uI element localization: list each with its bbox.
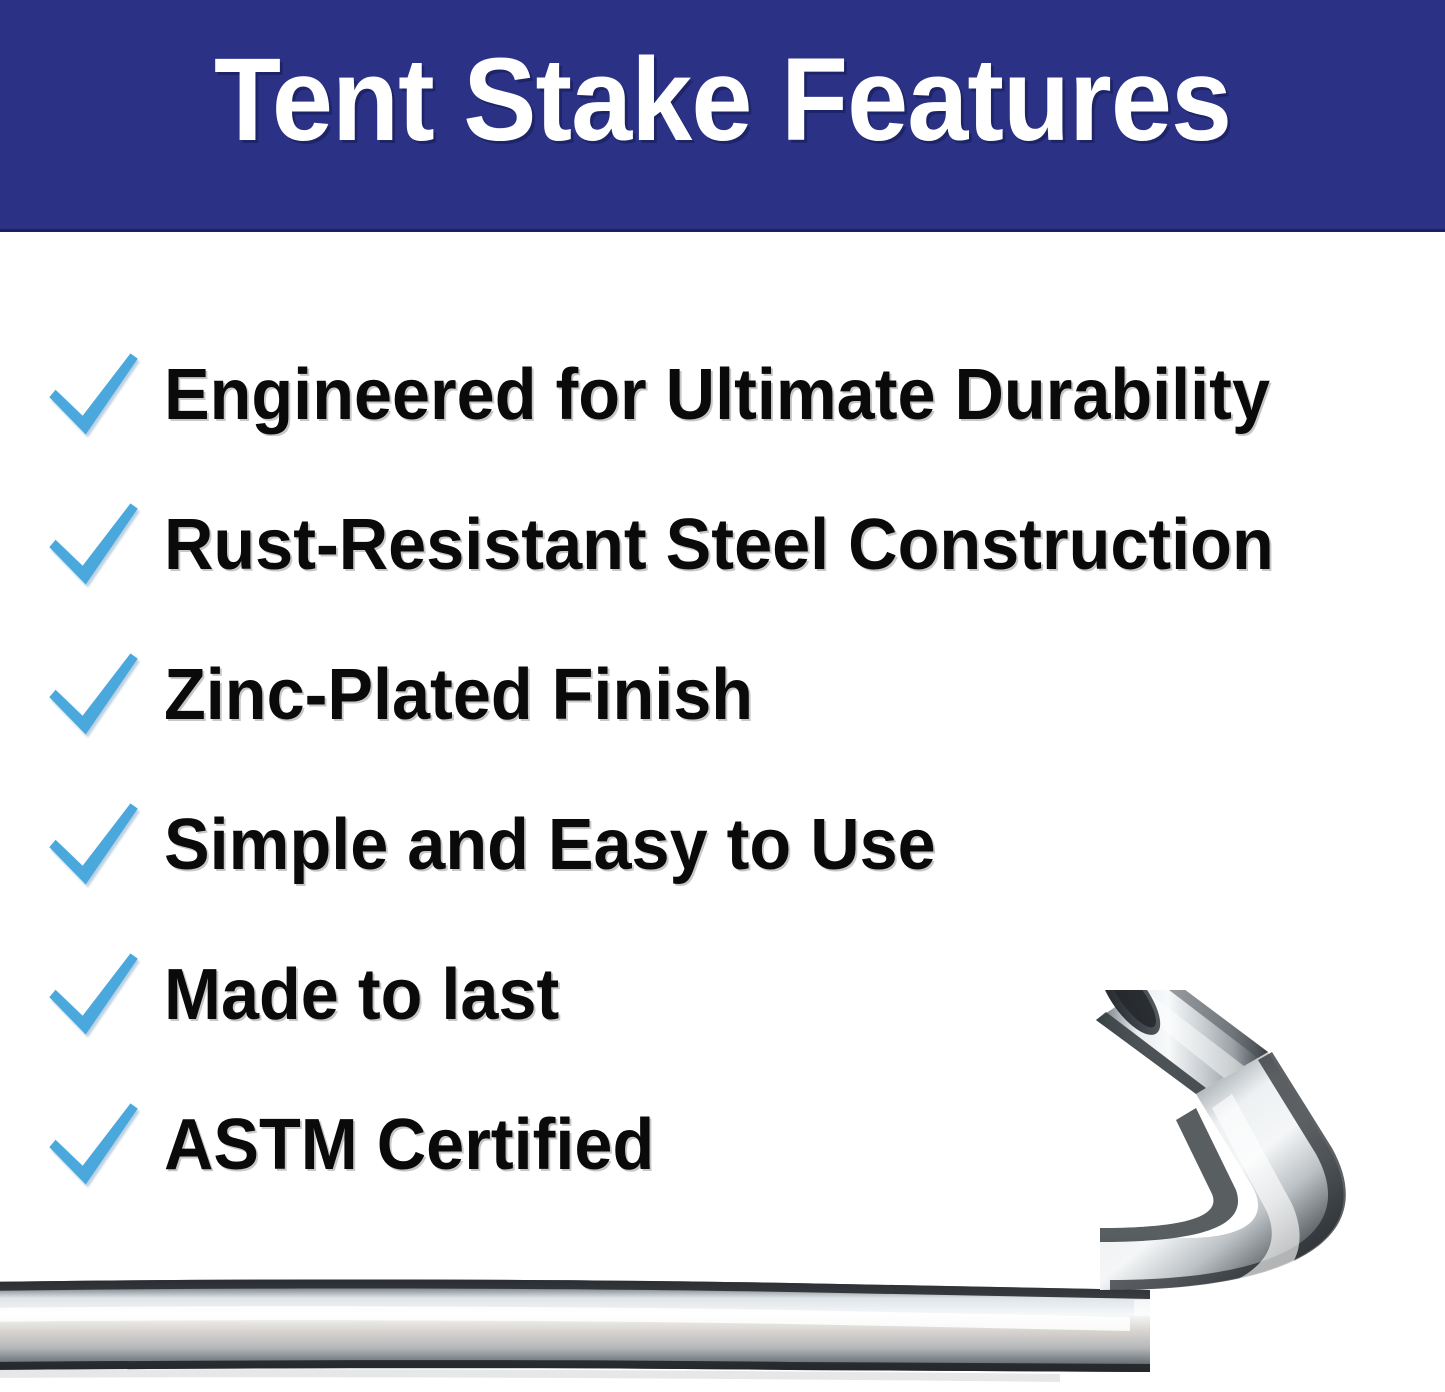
tent-stake-features-infographic: Tent Stake Features Engineered for Ultim… — [0, 0, 1445, 1392]
feature-row: Simple and Easy to Use — [0, 770, 1445, 920]
feature-label: Engineered for Ultimate Durability — [164, 355, 1270, 435]
feature-row: Rust-Resistant Steel Construction — [0, 470, 1445, 620]
check-icon — [28, 490, 158, 600]
feature-row: Engineered for Ultimate Durability — [0, 320, 1445, 470]
header-banner: Tent Stake Features — [0, 0, 1445, 232]
feature-label: ASTM Certified — [164, 1105, 654, 1185]
feature-row: Zinc-Plated Finish — [0, 620, 1445, 770]
feature-row: Made to last — [0, 920, 1445, 1070]
feature-label: Rust-Resistant Steel Construction — [164, 505, 1274, 585]
feature-list: Engineered for Ultimate Durability Rust-… — [0, 320, 1445, 1220]
page-title: Tent Stake Features — [51, 30, 1395, 170]
check-icon — [28, 1090, 158, 1200]
check-icon — [28, 340, 158, 450]
feature-label: Zinc-Plated Finish — [164, 655, 753, 735]
check-icon — [28, 790, 158, 900]
feature-row: ASTM Certified — [0, 1070, 1445, 1220]
feature-label: Made to last — [164, 955, 559, 1035]
check-icon — [28, 940, 158, 1050]
check-icon — [28, 640, 158, 750]
feature-label: Simple and Easy to Use — [164, 805, 936, 885]
